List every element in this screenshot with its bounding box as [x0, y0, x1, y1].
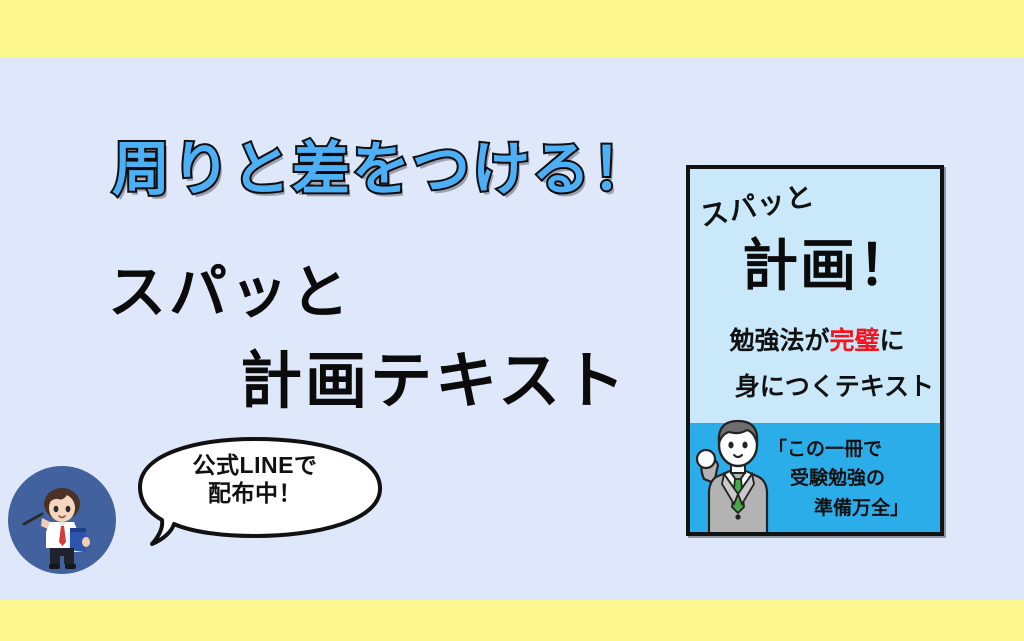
title-line-2: 計画テキスト: [240, 330, 628, 420]
teacher-figure-icon: [694, 417, 780, 536]
book-quote: 「この一冊で 受験勉強の 準備万全」: [768, 435, 938, 523]
book-cover: スパッと 計画！ 勉強法が完璧に 身につくテキスト 「この一冊で 受験勉強の 準…: [686, 165, 944, 536]
bubble-line-2: 配布中！: [130, 479, 380, 507]
book-quote-line-1: 「この一冊で: [768, 439, 882, 460]
speech-bubble-text: 公式LINEで 配布中！: [130, 451, 380, 507]
bubble-line-1: 公式LINEで: [130, 451, 380, 479]
book-quote-line-3: 準備万全」: [768, 494, 938, 523]
book-subline-1-highlight: 完璧: [829, 327, 879, 355]
book-subline-1-post: に: [880, 327, 905, 355]
avatar: [8, 466, 116, 574]
headline-text: 周りと差をつける！: [112, 122, 652, 206]
promo-banner: 周りと差をつける！ スパッと 計画テキスト 公式LINEで 配布中！: [0, 0, 1024, 641]
book-subline-2: 身につくテキスト: [690, 367, 934, 403]
title-line-1: スパッと: [108, 245, 352, 329]
book-quote-line-2: 受験勉強の: [768, 464, 938, 493]
book-main-text: 計画！: [742, 221, 916, 302]
speech-bubble: 公式LINEで 配布中！: [130, 437, 390, 547]
top-accent-band: [0, 0, 1024, 57]
book-subline-1-pre: 勉強法が: [729, 327, 829, 355]
student-avatar-icon: [8, 466, 116, 574]
book-subline-1: 勉強法が完璧に: [698, 321, 936, 357]
bottom-accent-band: [0, 600, 1024, 641]
